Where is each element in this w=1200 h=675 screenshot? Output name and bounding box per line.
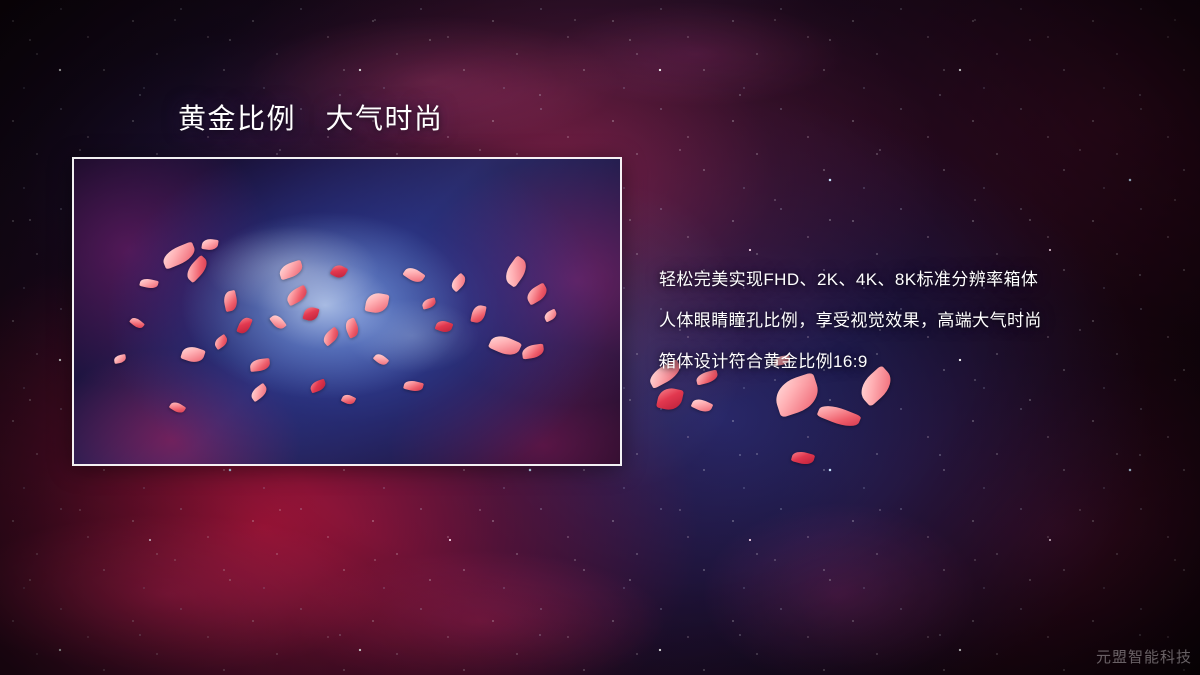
galaxy-core-haze — [74, 159, 620, 464]
body-copy: 轻松完美实现FHD、2K、4K、8K标准分辨率箱体 人体眼睛瞳孔比例，享受视觉效… — [659, 259, 1164, 382]
presentation-slide: 黄金比例 大气时尚 — [0, 0, 1200, 675]
petal — [691, 396, 714, 414]
petal — [656, 386, 684, 413]
petal — [817, 401, 862, 432]
watermark: 元盟智能科技 — [1096, 646, 1192, 667]
petal — [791, 449, 815, 467]
slide-title: 黄金比例 大气时尚 — [178, 101, 444, 136]
body-line: 轻松完美实现FHD、2K、4K、8K标准分辨率箱体 — [659, 259, 1164, 300]
body-line: 人体眼睛瞳孔比例，享受视觉效果，高端大气时尚 — [659, 300, 1164, 341]
body-line: 箱体设计符合黄金比例16:9 — [659, 341, 1164, 382]
framed-image — [72, 157, 622, 466]
